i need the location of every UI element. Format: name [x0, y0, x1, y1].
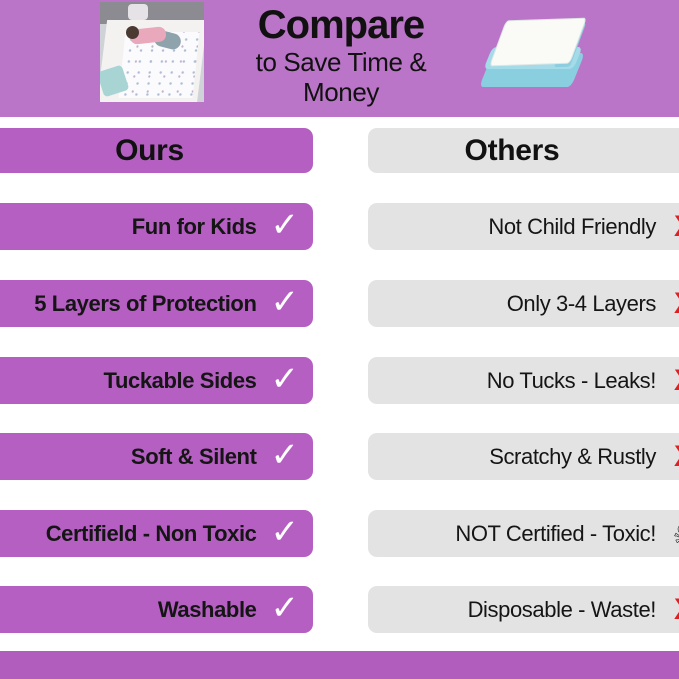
others-cell: No Tucks - Leaks! X — [368, 357, 679, 404]
others-cell: NOT Certified - Toxic! ☠ — [368, 510, 679, 557]
others-label: Not Child Friendly — [488, 214, 656, 240]
page-subtitle-line1: to Save Time & — [213, 47, 469, 77]
cross-icon: X — [674, 212, 679, 242]
comparison-infographic: Compare to Save Time & Money Ours Others… — [0, 0, 679, 679]
check-icon: ✓ — [271, 438, 300, 472]
check-icon: ✓ — [271, 208, 300, 242]
header-title-block: Compare to Save Time & Money — [213, 3, 469, 107]
column-header-others: Others — [368, 128, 679, 173]
page-title: Compare — [213, 3, 469, 47]
check-icon: ✓ — [271, 285, 300, 319]
ours-cell: Washable ✓ — [0, 586, 313, 633]
check-icon: ✓ — [271, 515, 300, 549]
others-label: NOT Certified - Toxic! — [455, 521, 656, 547]
others-label: No Tucks - Leaks! — [487, 368, 656, 394]
baby-sleeping-photo — [100, 2, 204, 102]
ours-cell: Certifield - Non Toxic ✓ — [0, 510, 313, 557]
cross-icon: X — [674, 289, 679, 319]
others-cell: Not Child Friendly X — [368, 203, 679, 250]
ours-cell: Fun for Kids ✓ — [0, 203, 313, 250]
check-icon: ✓ — [271, 362, 300, 396]
cross-icon: X — [674, 442, 679, 472]
cross-icon: X — [674, 366, 679, 396]
others-cell: Disposable - Waste! X — [368, 586, 679, 633]
skull-and-crossbones-icon: ☠ — [673, 521, 679, 547]
ours-label: Washable — [158, 597, 257, 623]
ours-cell: Soft & Silent ✓ — [0, 433, 313, 480]
others-label: Disposable - Waste! — [468, 597, 656, 623]
ours-label: Certifield - Non Toxic — [46, 521, 257, 547]
cross-icon: X — [674, 595, 679, 625]
page-subtitle-line2: Money — [213, 77, 469, 107]
others-cell: Scratchy & Rustly X — [368, 433, 679, 480]
ours-label: Soft & Silent — [131, 444, 257, 470]
footer-bar — [0, 651, 679, 679]
header-banner: Compare to Save Time & Money — [0, 0, 679, 117]
ours-label: 5 Layers of Protection — [34, 291, 256, 317]
others-label: Scratchy & Rustly — [489, 444, 656, 470]
column-header-others-label: Others — [368, 134, 656, 168]
ours-cell: Tuckable Sides ✓ — [0, 357, 313, 404]
ours-label: Fun for Kids — [132, 214, 257, 240]
ours-cell: 5 Layers of Protection ✓ — [0, 280, 313, 327]
folded-mat-photo — [480, 5, 592, 105]
ours-label: Tuckable Sides — [104, 368, 257, 394]
column-header-ours-label: Ours — [115, 134, 184, 168]
others-cell: Only 3-4 Layers X — [368, 280, 679, 327]
others-label: Only 3-4 Layers — [507, 291, 656, 317]
check-icon: ✓ — [271, 591, 300, 625]
column-header-ours: Ours — [0, 128, 313, 173]
photo-baby-head — [126, 26, 139, 39]
photo-pillow — [128, 4, 148, 20]
